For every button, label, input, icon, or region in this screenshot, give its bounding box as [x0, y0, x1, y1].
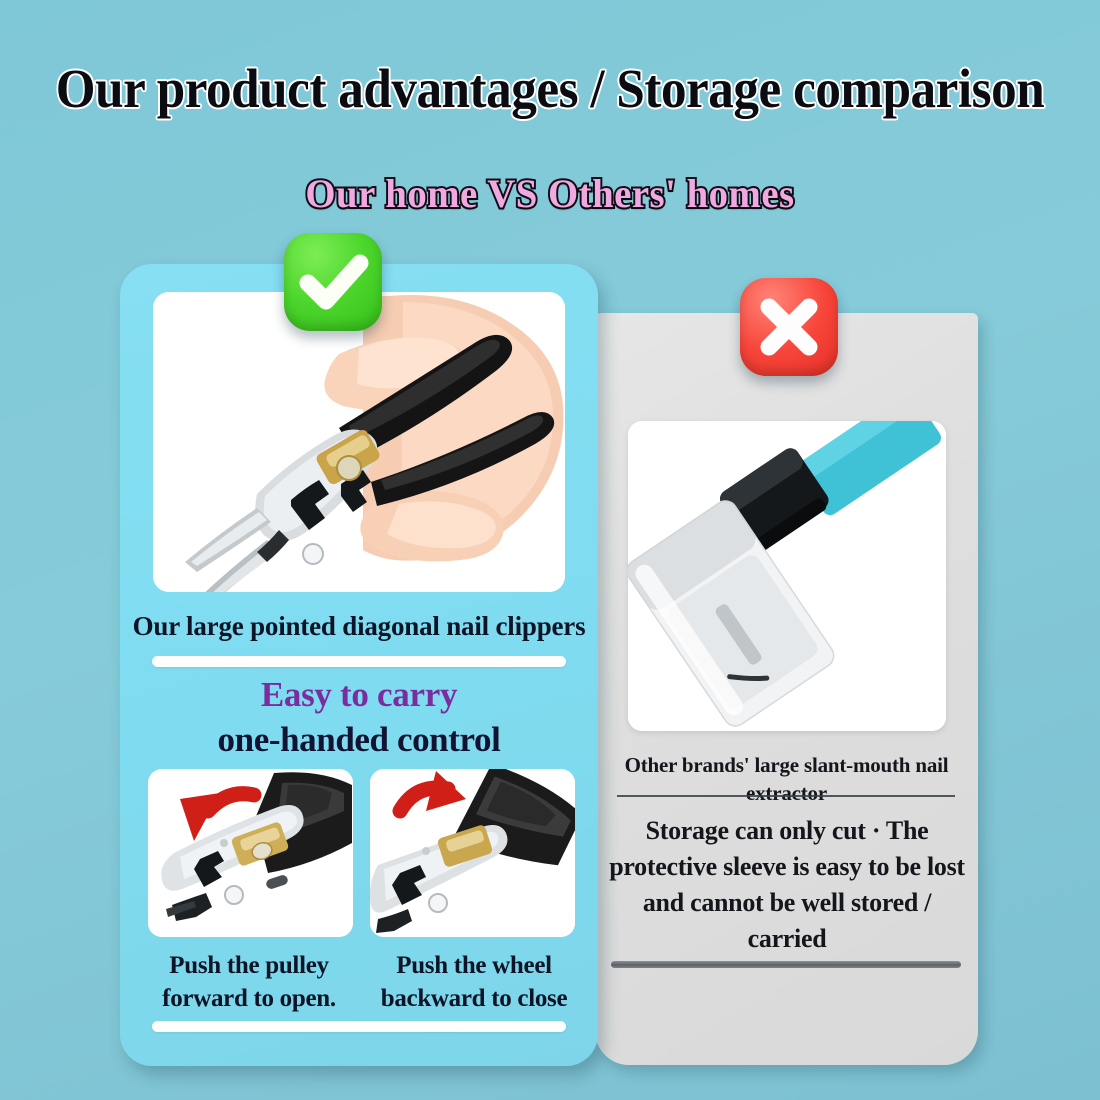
divider-bottom — [152, 1021, 566, 1032]
divider-top — [152, 656, 566, 667]
comparison-card-others: Other brands' large slant-mouth nail ext… — [595, 313, 978, 1065]
cross-badge — [740, 278, 838, 376]
others-product-photo — [628, 421, 946, 731]
cross-icon — [740, 278, 838, 376]
nail-clipper-sleeve-illustration — [628, 421, 946, 731]
check-icon — [284, 233, 382, 331]
others-divider-thick — [611, 961, 961, 968]
check-badge — [284, 233, 382, 331]
others-drawback-text: Storage can only cut · The protective sl… — [607, 813, 967, 957]
our-product-caption: Our large pointed diagonal nail clippers — [120, 609, 598, 643]
hand-holding-clippers-illustration — [153, 292, 565, 592]
step-caption-backward: Push the wheel backward to close — [363, 949, 585, 1015]
others-product-caption: Other brands' large slant-mouth nail ext… — [599, 751, 974, 807]
page-subtitle: Our home VS Others' homes — [17, 170, 1084, 218]
our-product-photo — [153, 292, 565, 592]
step-photo-backward — [370, 769, 575, 937]
one-handed-control-label: one-handed control — [120, 716, 598, 764]
clipper-backward-arrow-illustration — [370, 769, 575, 937]
step-photo-forward — [148, 769, 353, 937]
page-title: Our product advantages / Storage compari… — [39, 58, 1062, 120]
easy-to-carry-label: Easy to carry — [120, 672, 598, 718]
clipper-forward-arrow-illustration — [148, 769, 353, 937]
step-caption-forward: Push the pulley forward to open. — [138, 949, 360, 1015]
comparison-card-ours: Our large pointed diagonal nail clippers… — [120, 264, 598, 1066]
others-divider-thin — [617, 795, 955, 797]
